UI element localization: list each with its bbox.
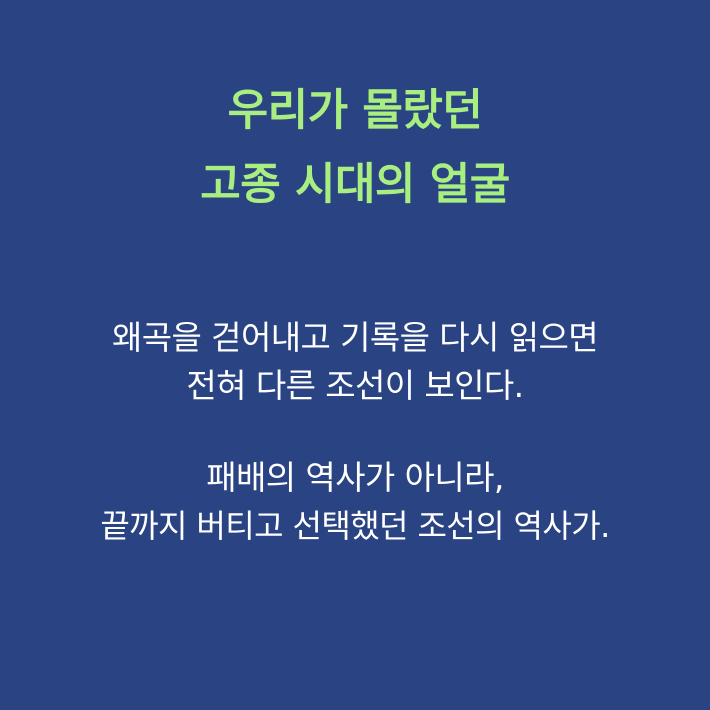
body-paragraph-1: 왜곡을 걷어내고 기록을 다시 읽으면 전혀 다른 조선이 보인다.	[0, 314, 710, 410]
page-title: 우리가 몰랐던 고종 시대의 얼굴	[0, 74, 710, 222]
body-line-3: 패배의 역사가 아니라,	[0, 454, 710, 502]
text-card: 우리가 몰랐던 고종 시대의 얼굴 왜곡을 걷어내고 기록을 다시 읽으면 전혀…	[0, 0, 710, 710]
body-text: 왜곡을 걷어내고 기록을 다시 읽으면 전혀 다른 조선이 보인다. 패배의 역…	[0, 222, 710, 550]
body-line-1: 왜곡을 걷어내고 기록을 다시 읽으면	[0, 314, 710, 362]
body-paragraph-2: 패배의 역사가 아니라, 끝까지 버티고 선택했던 조선의 역사가.	[0, 454, 710, 550]
title-line-2: 고종 시대의 얼굴	[0, 148, 710, 222]
body-line-4: 끝까지 버티고 선택했던 조선의 역사가.	[0, 502, 710, 550]
body-line-2: 전혀 다른 조선이 보인다.	[0, 362, 710, 410]
title-line-1: 우리가 몰랐던	[0, 74, 710, 148]
